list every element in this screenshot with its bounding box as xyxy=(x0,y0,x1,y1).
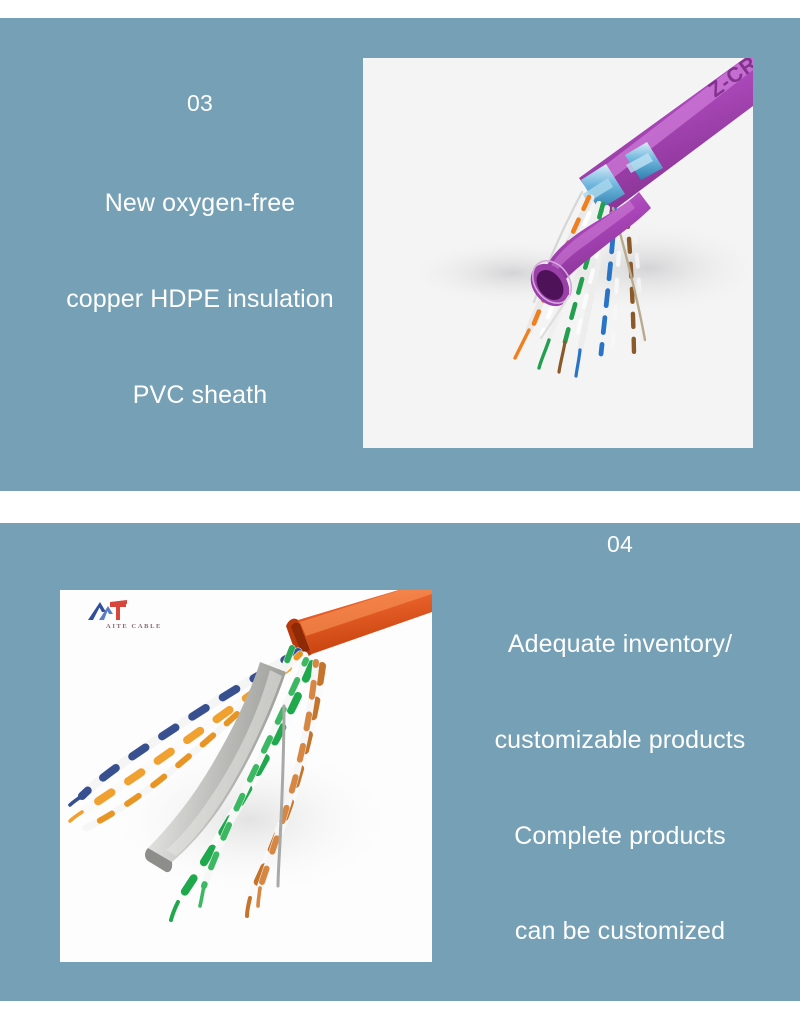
panel-04-text-column: 04 Adequate inventory/ customizable prod… xyxy=(440,523,800,1001)
panel-04-line-1: Adequate inventory/ xyxy=(508,630,732,659)
panel-03-line-3: PVC sheath xyxy=(133,381,267,410)
panel-03-step-number: 03 xyxy=(187,92,213,115)
panel-04-line-3: Complete products xyxy=(514,822,726,851)
orange-cable-illustration xyxy=(60,590,432,962)
panel-03-text-column: 03 New oxygen-free copper HDPE insulatio… xyxy=(0,18,400,491)
purple-cable-illustration: Z-CR xyxy=(363,58,753,448)
page-root: 03 New oxygen-free copper HDPE insulatio… xyxy=(0,0,800,1019)
panel-04-line-4: can be customized xyxy=(515,917,725,946)
panel-04-product-photo: AITE CABLE xyxy=(60,590,432,962)
panel-03-line-2: copper HDPE insulation xyxy=(66,285,334,314)
feature-panel-03: 03 New oxygen-free copper HDPE insulatio… xyxy=(0,18,800,491)
panel-04-step-number: 04 xyxy=(607,533,633,556)
panel-03-product-photo: Z-CR xyxy=(363,58,753,448)
panel-03-line-1: New oxygen-free xyxy=(105,189,295,218)
feature-panel-04: AITE CABLE 04 Adequate inventory/ custom… xyxy=(0,523,800,1001)
panel-04-line-2: customizable products xyxy=(495,726,746,755)
